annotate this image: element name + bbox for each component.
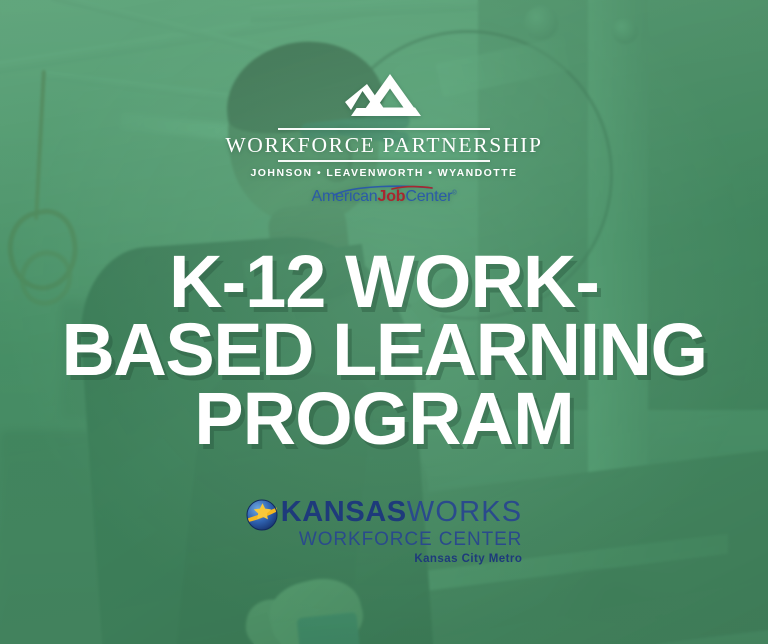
title-line-1: K-12 WORK-: [14, 248, 754, 317]
title-line-3: PROGRAM: [14, 385, 754, 454]
ajc-job: Job: [378, 188, 406, 205]
ajc-american: American: [312, 188, 378, 205]
ajc-center: Center: [405, 188, 452, 205]
logo-rule-bottom: [278, 160, 490, 162]
title-line-2: BASED LEARNING: [14, 316, 754, 385]
poster-canvas: WORKFORCE PARTNERSHIP JOHNSON • LEAVENWO…: [0, 0, 768, 644]
poster-content: WORKFORCE PARTNERSHIP JOHNSON • LEAVENWO…: [0, 0, 768, 644]
triangle-chevron-mark-icon: [345, 72, 423, 120]
partnership-name: WORKFORCE PARTNERSHIP: [225, 133, 542, 158]
workforce-partnership-logo: WORKFORCE PARTNERSHIP JOHNSON • LEAVENWO…: [225, 72, 542, 210]
page-title: K-12 WORK- BASED LEARNING PROGRAM: [14, 248, 754, 454]
ajc-wordmark: AmericanJobCenter®: [312, 188, 457, 206]
logo-rule-top: [278, 128, 490, 130]
american-job-center-logo: AmericanJobCenter®: [312, 188, 457, 210]
ajc-trademark: ®: [452, 190, 456, 196]
partnership-counties: JOHNSON • LEAVENWORTH • WYANDOTTE: [251, 167, 518, 179]
